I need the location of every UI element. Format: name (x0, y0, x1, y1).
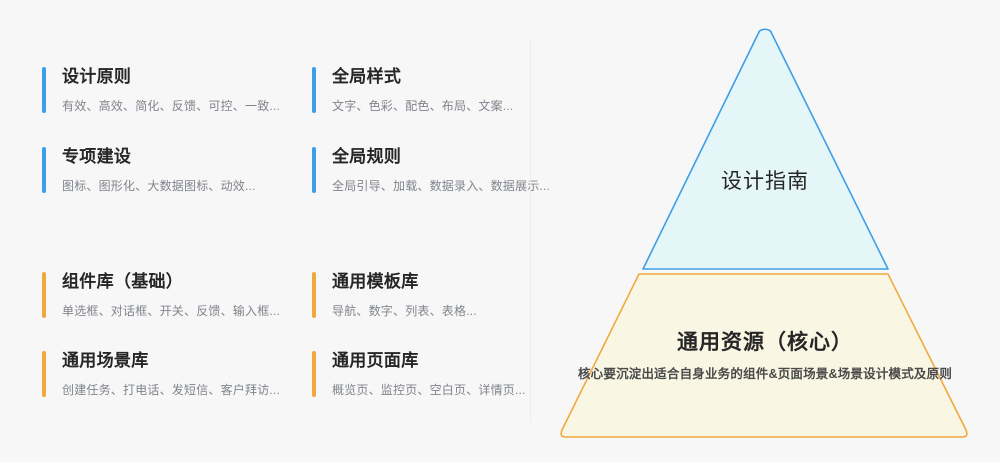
list-item-body: 全局规则 全局引导、加载、数据录入、数据展示... (316, 145, 550, 195)
diagram-canvas: 设计原则 有效、高效、简化、反馈、可控、一致... 专项建设 图标、图形化、大数… (0, 0, 1000, 462)
list-item-body: 专项建设 图标、图形化、大数据图标、动效... (46, 145, 256, 195)
list-item-body: 设计原则 有效、高效、简化、反馈、可控、一致... (46, 65, 280, 115)
list-item-title: 专项建设 (62, 145, 256, 169)
list-item-title: 设计原则 (62, 65, 280, 89)
list-item[interactable]: 组件库（基础） 单选框、对话框、开关、反馈、输入框... (42, 270, 302, 320)
list-item-title: 通用模板库 (332, 270, 477, 294)
pyramid-top-shape[interactable] (643, 29, 888, 269)
pyramid-shapes (530, 0, 1000, 462)
list-item-body: 组件库（基础） 单选框、对话框、开关、反馈、输入框... (46, 270, 280, 320)
list-item-description: 有效、高效、简化、反馈、可控、一致... (62, 98, 280, 115)
category-column-left: 设计原则 有效、高效、简化、反馈、可控、一致... 专项建设 图标、图形化、大数… (42, 0, 302, 462)
list-item-description: 单选框、对话框、开关、反馈、输入框... (62, 303, 280, 320)
list-item-body: 全局样式 文字、色彩、配色、布局、文案... (316, 65, 513, 115)
list-item-title: 组件库（基础） (62, 270, 280, 294)
pyramid-bottom-label: 通用资源（核心） (530, 328, 1000, 358)
list-item-body: 通用模板库 导航、数字、列表、表格... (316, 270, 477, 320)
list-item-description: 全局引导、加载、数据录入、数据展示... (332, 178, 550, 195)
list-item[interactable]: 设计原则 有效、高效、简化、反馈、可控、一致... (42, 65, 302, 115)
list-item-description: 概览页、监控页、空白页、详情页... (332, 382, 526, 399)
pyramid-diagram: 设计指南 通用资源（核心） 核心要沉淀出适合自身业务的组件&页面场景&场景设计模… (530, 0, 1000, 462)
list-item[interactable]: 专项建设 图标、图形化、大数据图标、动效... (42, 145, 302, 195)
pyramid-top-label: 设计指南 (530, 167, 1000, 197)
list-item-description: 创建任务、打电话、发短信、客户拜访... (62, 382, 280, 399)
category-list-region: 设计原则 有效、高效、简化、反馈、可控、一致... 专项建设 图标、图形化、大数… (0, 0, 530, 462)
list-item-body: 通用页面库 概览页、监控页、空白页、详情页... (316, 349, 526, 399)
list-item-body: 通用场景库 创建任务、打电话、发短信、客户拜访... (46, 349, 280, 399)
list-item-title: 全局样式 (332, 65, 513, 89)
list-item-description: 文字、色彩、配色、布局、文案... (332, 98, 513, 115)
list-item-title: 全局规则 (332, 145, 550, 169)
list-item-title: 通用页面库 (332, 349, 526, 373)
list-item-description: 图标、图形化、大数据图标、动效... (62, 178, 256, 195)
list-item-title: 通用场景库 (62, 349, 280, 373)
list-item-description: 导航、数字、列表、表格... (332, 303, 477, 320)
list-item[interactable]: 通用场景库 创建任务、打电话、发短信、客户拜访... (42, 349, 302, 399)
pyramid-bottom-sublabel: 核心要沉淀出适合自身业务的组件&页面场景&场景设计模式及原则 (530, 365, 1000, 383)
